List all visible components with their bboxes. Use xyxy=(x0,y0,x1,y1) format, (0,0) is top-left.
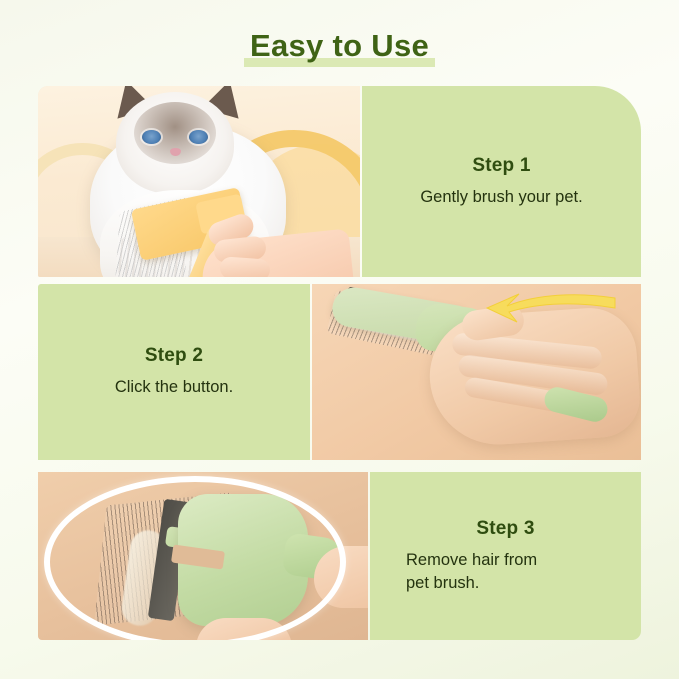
page-title-container: Easy to Use xyxy=(0,28,679,67)
step-2-title: Step 2 xyxy=(38,345,310,367)
button-press-photo xyxy=(312,284,641,460)
step-1-description: Gently brush your pet. xyxy=(362,186,641,208)
step-3-description: Remove hair from pet brush. xyxy=(370,549,641,594)
hand-finger-3 xyxy=(219,256,270,277)
product-infographic: Easy to Use xyxy=(0,0,679,679)
step-3-title: Step 3 xyxy=(370,518,641,540)
step-3-description-line-1: Remove hair from xyxy=(406,549,641,571)
cat-eye-left xyxy=(142,130,161,144)
step-2-description: Click the button. xyxy=(38,376,310,398)
step-1-text-panel: Step 1 Gently brush your pet. xyxy=(362,86,641,277)
step-3-text-panel: Step 3 Remove hair from pet brush. xyxy=(370,472,641,640)
step-2-image-panel xyxy=(312,284,641,460)
cat-eye-right xyxy=(189,130,208,144)
page-title-text: Easy to Use xyxy=(250,28,429,63)
page-title: Easy to Use xyxy=(244,28,435,67)
step-3-description-line-2: pet brush. xyxy=(406,572,641,594)
yellow-arrow-icon xyxy=(467,292,617,326)
step-1-image-panel xyxy=(38,86,360,277)
step-1-title: Step 1 xyxy=(362,155,641,177)
step-2-text-panel: Step 2 Click the button. xyxy=(38,284,310,460)
step-2-row: Step 2 Click the button. xyxy=(38,284,641,460)
step-3-row: Step 3 Remove hair from pet brush. xyxy=(38,472,641,640)
cat-brushing-photo xyxy=(38,86,360,277)
step-1-row: Step 1 Gently brush your pet. xyxy=(38,86,641,277)
hair-removal-photo xyxy=(38,472,368,640)
step-3-image-panel xyxy=(38,472,368,640)
highlight-ellipse xyxy=(44,476,346,640)
